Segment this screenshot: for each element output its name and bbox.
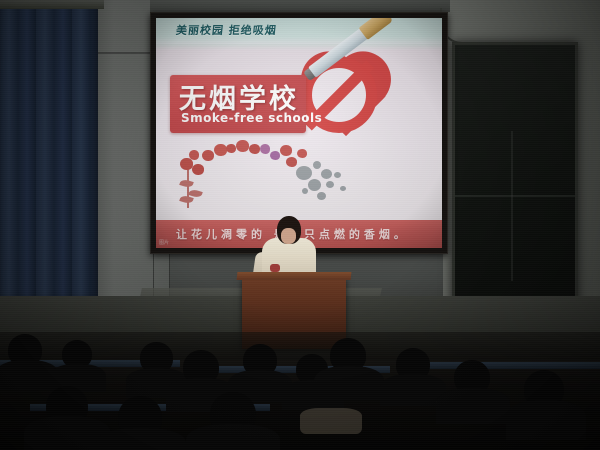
wall-blackboard — [452, 42, 578, 338]
audience-shoulders — [96, 428, 186, 450]
stage-curtain — [0, 0, 98, 300]
smoke-particle — [296, 166, 312, 180]
bench-row — [400, 362, 600, 369]
slide-title-english: Smoke-free schools — [181, 111, 322, 125]
smoke-particle — [334, 172, 341, 178]
smoke-particle — [321, 169, 332, 179]
flower-petal — [214, 144, 227, 156]
smoke-particle — [302, 188, 308, 194]
slide-header-text: 美丽校园 拒绝吸烟 — [175, 22, 278, 38]
flower-petal — [286, 157, 297, 167]
flower-petal — [226, 144, 236, 153]
podium-top-edge — [237, 272, 352, 280]
smoke-particle — [308, 179, 321, 191]
slide-title-plaque: 无烟学校 Smoke-free schools — [170, 75, 306, 133]
audience-light-clothing — [300, 408, 362, 434]
audience-shoulders — [436, 388, 510, 424]
flower-petal — [260, 144, 270, 154]
audience-area — [0, 332, 600, 450]
smoke-particle — [317, 192, 326, 200]
smoke-particle — [340, 186, 346, 191]
presenter-face — [281, 228, 296, 244]
ceiling-edge — [150, 0, 450, 12]
flower-petal — [297, 149, 307, 158]
audience-shoulders — [186, 424, 280, 450]
wall-pillar — [96, 0, 154, 300]
blackboard-seam-vertical — [511, 131, 513, 281]
presentation-slide: 美丽校园 拒绝吸烟 — [156, 18, 442, 248]
flower-petal — [249, 144, 260, 154]
smoke-particle — [326, 181, 334, 188]
flower-petal — [236, 140, 249, 152]
flower-petal — [189, 150, 199, 160]
slide-footer-watermark: 图片 — [159, 239, 169, 246]
audience-shoulders — [314, 366, 384, 400]
audience-shoulders — [506, 400, 586, 440]
projection-screen: 美丽校园 拒绝吸烟 — [150, 12, 448, 254]
flower-petal — [270, 151, 280, 160]
microphone — [270, 264, 280, 272]
auditorium-photo: 美丽校园 拒绝吸烟 — [0, 0, 600, 450]
smoke-particle — [313, 161, 321, 169]
curtain-rod — [0, 0, 104, 9]
blackboard-seam-horizontal — [455, 195, 575, 197]
flower-petal — [202, 150, 214, 161]
flower-petal — [192, 164, 204, 175]
